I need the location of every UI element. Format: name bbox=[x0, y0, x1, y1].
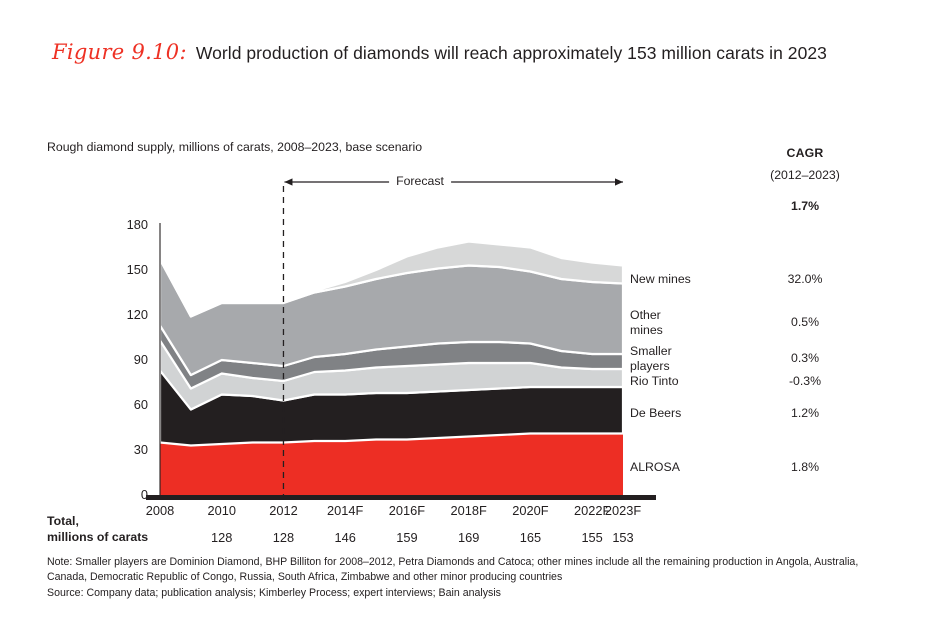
cagr-total-value: 1.7% bbox=[740, 199, 870, 213]
chart-axis bbox=[146, 186, 656, 498]
area-series-new-mines bbox=[160, 242, 623, 317]
legend-label-rio-tinto: Rio Tinto bbox=[630, 374, 679, 389]
legend-label-line: Rio Tinto bbox=[630, 374, 679, 389]
total-value: 146 bbox=[335, 530, 356, 545]
footnote-line: Note: Smaller players are Dominion Diamo… bbox=[47, 555, 927, 570]
area-series-rio-tinto bbox=[160, 341, 623, 410]
legend-label-line: ALROSA bbox=[630, 460, 680, 475]
y-tick-label: 30 bbox=[108, 442, 148, 457]
y-tick-label: 150 bbox=[108, 262, 148, 277]
total-value: 128 bbox=[211, 530, 232, 545]
forecast-label: Forecast bbox=[389, 174, 451, 188]
area-series-alrosa bbox=[160, 434, 623, 496]
legend-label-line: players bbox=[630, 359, 672, 374]
cagr-value-smaller-players: 0.3% bbox=[740, 351, 870, 365]
legend-label-de-beers: De Beers bbox=[630, 406, 681, 421]
legend-label-other-mines: Othermines bbox=[630, 308, 663, 337]
legend-label-new-mines: New mines bbox=[630, 272, 691, 287]
page-title: World production of diamonds will reach … bbox=[196, 43, 827, 64]
total-value: 155 bbox=[581, 530, 602, 545]
total-value: 169 bbox=[458, 530, 479, 545]
x-tick-label: 2020F bbox=[512, 503, 548, 518]
x-tick-label: 2014F bbox=[327, 503, 363, 518]
x-tick-label: 2010 bbox=[207, 503, 235, 518]
forecast-arrowhead-left bbox=[284, 178, 292, 185]
cagr-value-de-beers: 1.2% bbox=[740, 406, 870, 420]
cagr-value-rio-tinto: -0.3% bbox=[740, 374, 870, 388]
figure-title-block: Figure 9.10: World production of diamond… bbox=[52, 40, 912, 64]
total-value: 165 bbox=[520, 530, 541, 545]
area-series-de-beers bbox=[160, 371, 623, 446]
x-tick-label: 2016F bbox=[389, 503, 425, 518]
cagr-range: (2012–2023) bbox=[740, 168, 870, 182]
footnotes: Note: Smaller players are Dominion Diamo… bbox=[47, 555, 927, 601]
cagr-title: CAGR bbox=[740, 146, 870, 160]
figure-number: Figure 9.10: bbox=[52, 40, 187, 64]
forecast-arrowhead-right bbox=[615, 178, 623, 185]
x-tick-label: 2018F bbox=[451, 503, 487, 518]
y-tick-label: 60 bbox=[108, 397, 148, 412]
y-tick-label: 90 bbox=[108, 352, 148, 367]
total-value: 128 bbox=[273, 530, 294, 545]
footnote-line: Source: Company data; publication analys… bbox=[47, 586, 927, 601]
cagr-value-new-mines: 32.0% bbox=[740, 272, 870, 286]
legend-label-line: Smaller bbox=[630, 344, 672, 359]
x-tick-label: 2012 bbox=[269, 503, 297, 518]
y-tick-label: 0 bbox=[108, 487, 148, 502]
cagr-value-other-mines: 0.5% bbox=[740, 315, 870, 329]
x-tick-label: 2023F bbox=[605, 503, 641, 518]
cagr-value-alrosa: 1.8% bbox=[740, 460, 870, 474]
legend-label-line: De Beers bbox=[630, 406, 681, 421]
cagr-header: CAGR (2012–2023) 1.7% bbox=[740, 146, 870, 213]
legend-label-line: mines bbox=[630, 323, 663, 338]
legend-label-alrosa: ALROSA bbox=[630, 460, 680, 475]
x-tick-label: 2008 bbox=[146, 503, 174, 518]
totals-label-line2: millions of carats bbox=[47, 529, 148, 545]
totals-label-line1: Total, bbox=[47, 513, 148, 529]
area-series-other-mines bbox=[160, 260, 623, 376]
area-series-smaller-players bbox=[160, 326, 623, 389]
total-value: 153 bbox=[612, 530, 633, 545]
y-tick-label: 180 bbox=[108, 217, 148, 232]
totals-row-label: Total, millions of carats bbox=[47, 513, 148, 545]
legend-label-line: New mines bbox=[630, 272, 691, 287]
chart-subtitle: Rough diamond supply, millions of carats… bbox=[47, 140, 422, 154]
legend-label-line: Other bbox=[630, 308, 663, 323]
footnote-line: Canada, Democratic Republic of Congo, Ru… bbox=[47, 570, 927, 585]
forecast-annotation bbox=[284, 178, 623, 185]
total-value: 159 bbox=[396, 530, 417, 545]
y-tick-label: 120 bbox=[108, 307, 148, 322]
chart-areas bbox=[160, 242, 623, 496]
legend-label-smaller-players: Smallerplayers bbox=[630, 344, 672, 373]
